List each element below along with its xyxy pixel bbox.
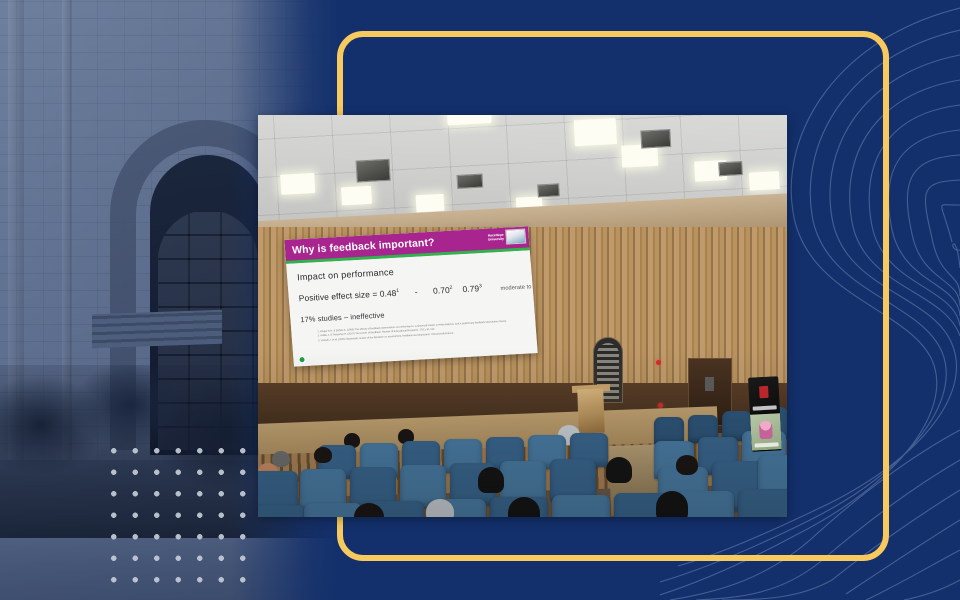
effect-dash: - [414,287,418,297]
audience-head [478,467,504,493]
participant-avatar-icon [759,386,769,398]
slide-references: 1. Kluger A.N. & DeNisi A. (1996) The ef… [301,319,528,344]
green-status-dot-icon [298,356,306,363]
auditorium-seat [738,489,787,517]
effect-sup-3: 3 [479,283,482,289]
logo-crest-icon [505,229,526,245]
ceiling-light-panel [280,173,315,195]
video-tile-participant-2 [750,413,782,452]
slide-canvas: Why is feedback important? Hacettepe Uni… [0,0,960,600]
participant-name-label [753,405,777,410]
participant-name-label [755,442,779,447]
ceiling-light-panel [749,171,780,191]
projection-screen: Why is feedback important? Hacettepe Uni… [284,226,537,366]
video-call-panel [748,376,782,451]
audience-head [656,491,688,517]
ceiling-air-vent [718,161,743,176]
effect-value-3: 0.79 [462,283,479,294]
dot-grid-decoration [101,438,261,590]
ceiling-light-panel [341,186,372,206]
ceiling-air-vent [356,159,391,183]
effect-sup-2: 2 [449,285,452,291]
slide-body: Impact on performance Positive effect si… [286,250,538,366]
lectern [577,389,605,434]
video-tile-participant-1 [748,376,780,415]
effect-value-2: 0.70 [433,285,450,296]
red-indicator-light [656,360,661,365]
audience-head [606,457,632,483]
logo-text: Hacettepe University [488,233,504,242]
effect-label: Positive effect size = [298,289,377,303]
auditorium-seat [552,495,610,517]
auditorium-seat [258,505,306,517]
effect-note: moderate to [500,284,531,292]
university-logo: Hacettepe University [487,229,526,246]
slide-effect-size-line: Positive effect size = 0.481 - 0.702 0.7… [298,281,524,304]
auditorium-photo: Why is feedback important? Hacettepe Uni… [258,115,787,517]
slide-heading: Impact on performance [297,260,523,283]
ceiling-air-vent [457,174,484,189]
audience-head [676,455,698,475]
slide-title: Why is feedback important? [292,236,435,256]
ceiling-light-panel [416,194,445,213]
effect-sup-1: 1 [396,288,399,294]
effect-value-1: 0.48 [379,288,396,299]
participant-video-thumbnail [759,421,773,440]
ceiling-air-vent [537,183,560,197]
audience-head [314,447,332,463]
ceiling-light-panel [574,118,617,146]
door-panel [705,377,714,391]
ceiling-air-vent [640,129,671,149]
